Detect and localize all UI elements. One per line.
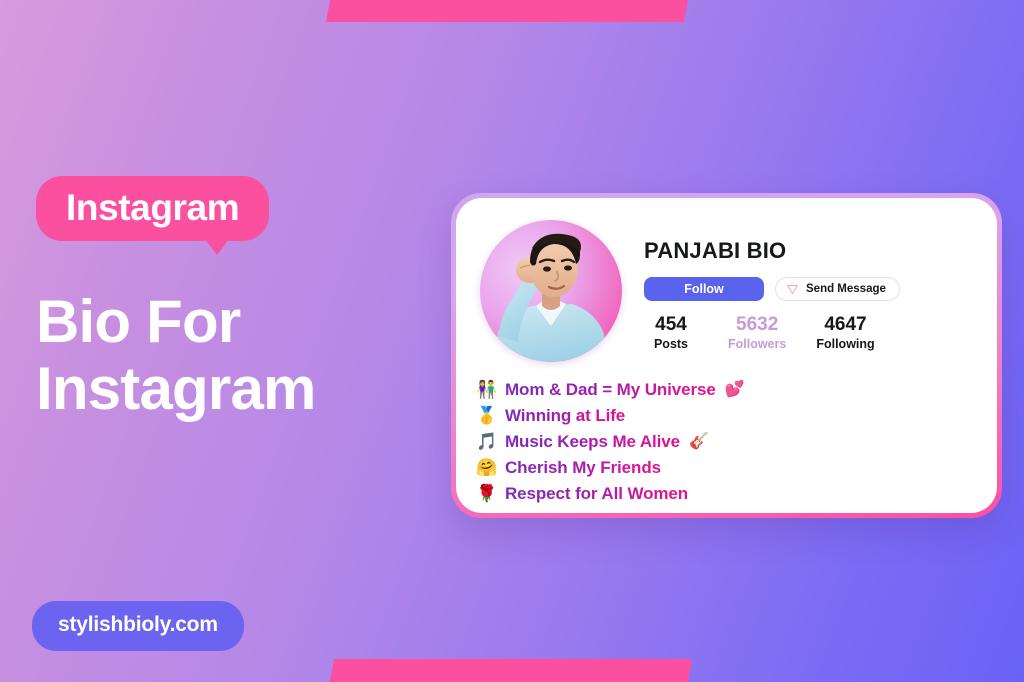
send-message-button[interactable]: Send Message bbox=[775, 277, 900, 301]
stat-followers-value: 5632 bbox=[728, 314, 786, 336]
profile-header: PANJABI BIO Follow Send Message 454 Post… bbox=[456, 198, 997, 362]
profile-actions: Follow Send Message bbox=[644, 277, 900, 301]
instagram-badge-bubble: Instagram bbox=[36, 176, 269, 241]
page-title-line-1: Bio For bbox=[36, 288, 316, 355]
stat-following-value: 4647 bbox=[816, 314, 874, 336]
bio-line-text: Cherish My Friends bbox=[505, 458, 661, 478]
bio-line-text: Respect for All Women bbox=[505, 484, 688, 504]
follow-button[interactable]: Follow bbox=[644, 277, 764, 301]
instagram-badge-label: Instagram bbox=[66, 189, 239, 226]
stat-posts-value: 454 bbox=[644, 314, 698, 336]
bio-line: 🎵 Music Keeps Me Alive 🎸 bbox=[476, 430, 997, 453]
page-title: Bio For Instagram bbox=[36, 288, 316, 422]
bio-line-text: Music Keeps Me Alive bbox=[505, 432, 680, 452]
profile-card: PANJABI BIO Follow Send Message 454 Post… bbox=[451, 193, 1002, 518]
page-title-line-2: Instagram bbox=[36, 355, 316, 422]
profile-name: PANJABI BIO bbox=[644, 238, 900, 264]
site-brand-pill[interactable]: stylishbioly.com bbox=[32, 601, 244, 651]
stat-following-label: Following bbox=[816, 337, 874, 351]
send-message-label: Send Message bbox=[806, 283, 886, 295]
site-brand-label: stylishbioly.com bbox=[58, 613, 218, 637]
avatar-photo-icon bbox=[480, 220, 622, 362]
guitar-emoji: 🎸 bbox=[689, 434, 709, 450]
musical-note-emoji: 🎵 bbox=[476, 433, 497, 450]
send-arrow-icon bbox=[786, 283, 799, 296]
two-hearts-emoji: 💕 bbox=[725, 382, 745, 398]
avatar bbox=[480, 220, 622, 362]
left-content-column: Instagram Bio For Instagram stylishbioly… bbox=[0, 0, 460, 682]
bio-line: 🤗 Cherish My Friends bbox=[476, 456, 997, 479]
bio-line: 🥇 Winning at Life bbox=[476, 404, 997, 427]
bio-list: 👫 Mom & Dad = My Universe 💕 🥇 Winning at… bbox=[456, 362, 997, 505]
profile-card-inner: PANJABI BIO Follow Send Message 454 Post… bbox=[456, 198, 997, 513]
bio-line: 👫 Mom & Dad = My Universe 💕 bbox=[476, 378, 997, 401]
bio-line-text: Mom & Dad = My Universe bbox=[505, 380, 716, 400]
rose-emoji: 🌹 bbox=[476, 485, 497, 502]
stat-posts[interactable]: 454 Posts bbox=[644, 314, 698, 351]
instagram-badge: Instagram bbox=[36, 176, 269, 241]
stat-followers-label: Followers bbox=[728, 337, 786, 351]
bio-line-text: Winning at Life bbox=[505, 406, 625, 426]
couple-emoji: 👫 bbox=[476, 381, 497, 398]
profile-stats: 454 Posts 5632 Followers 4647 Following bbox=[644, 314, 900, 351]
profile-info: PANJABI BIO Follow Send Message 454 Post… bbox=[644, 220, 900, 351]
gold-medal-emoji: 🥇 bbox=[476, 407, 497, 424]
stat-followers[interactable]: 5632 Followers bbox=[728, 314, 786, 351]
bio-line: 🌹 Respect for All Women bbox=[476, 482, 997, 505]
speech-bubble-tail-icon bbox=[204, 238, 230, 255]
stat-posts-label: Posts bbox=[644, 337, 698, 351]
stat-following[interactable]: 4647 Following bbox=[816, 314, 874, 351]
hugging-face-emoji: 🤗 bbox=[476, 459, 497, 476]
